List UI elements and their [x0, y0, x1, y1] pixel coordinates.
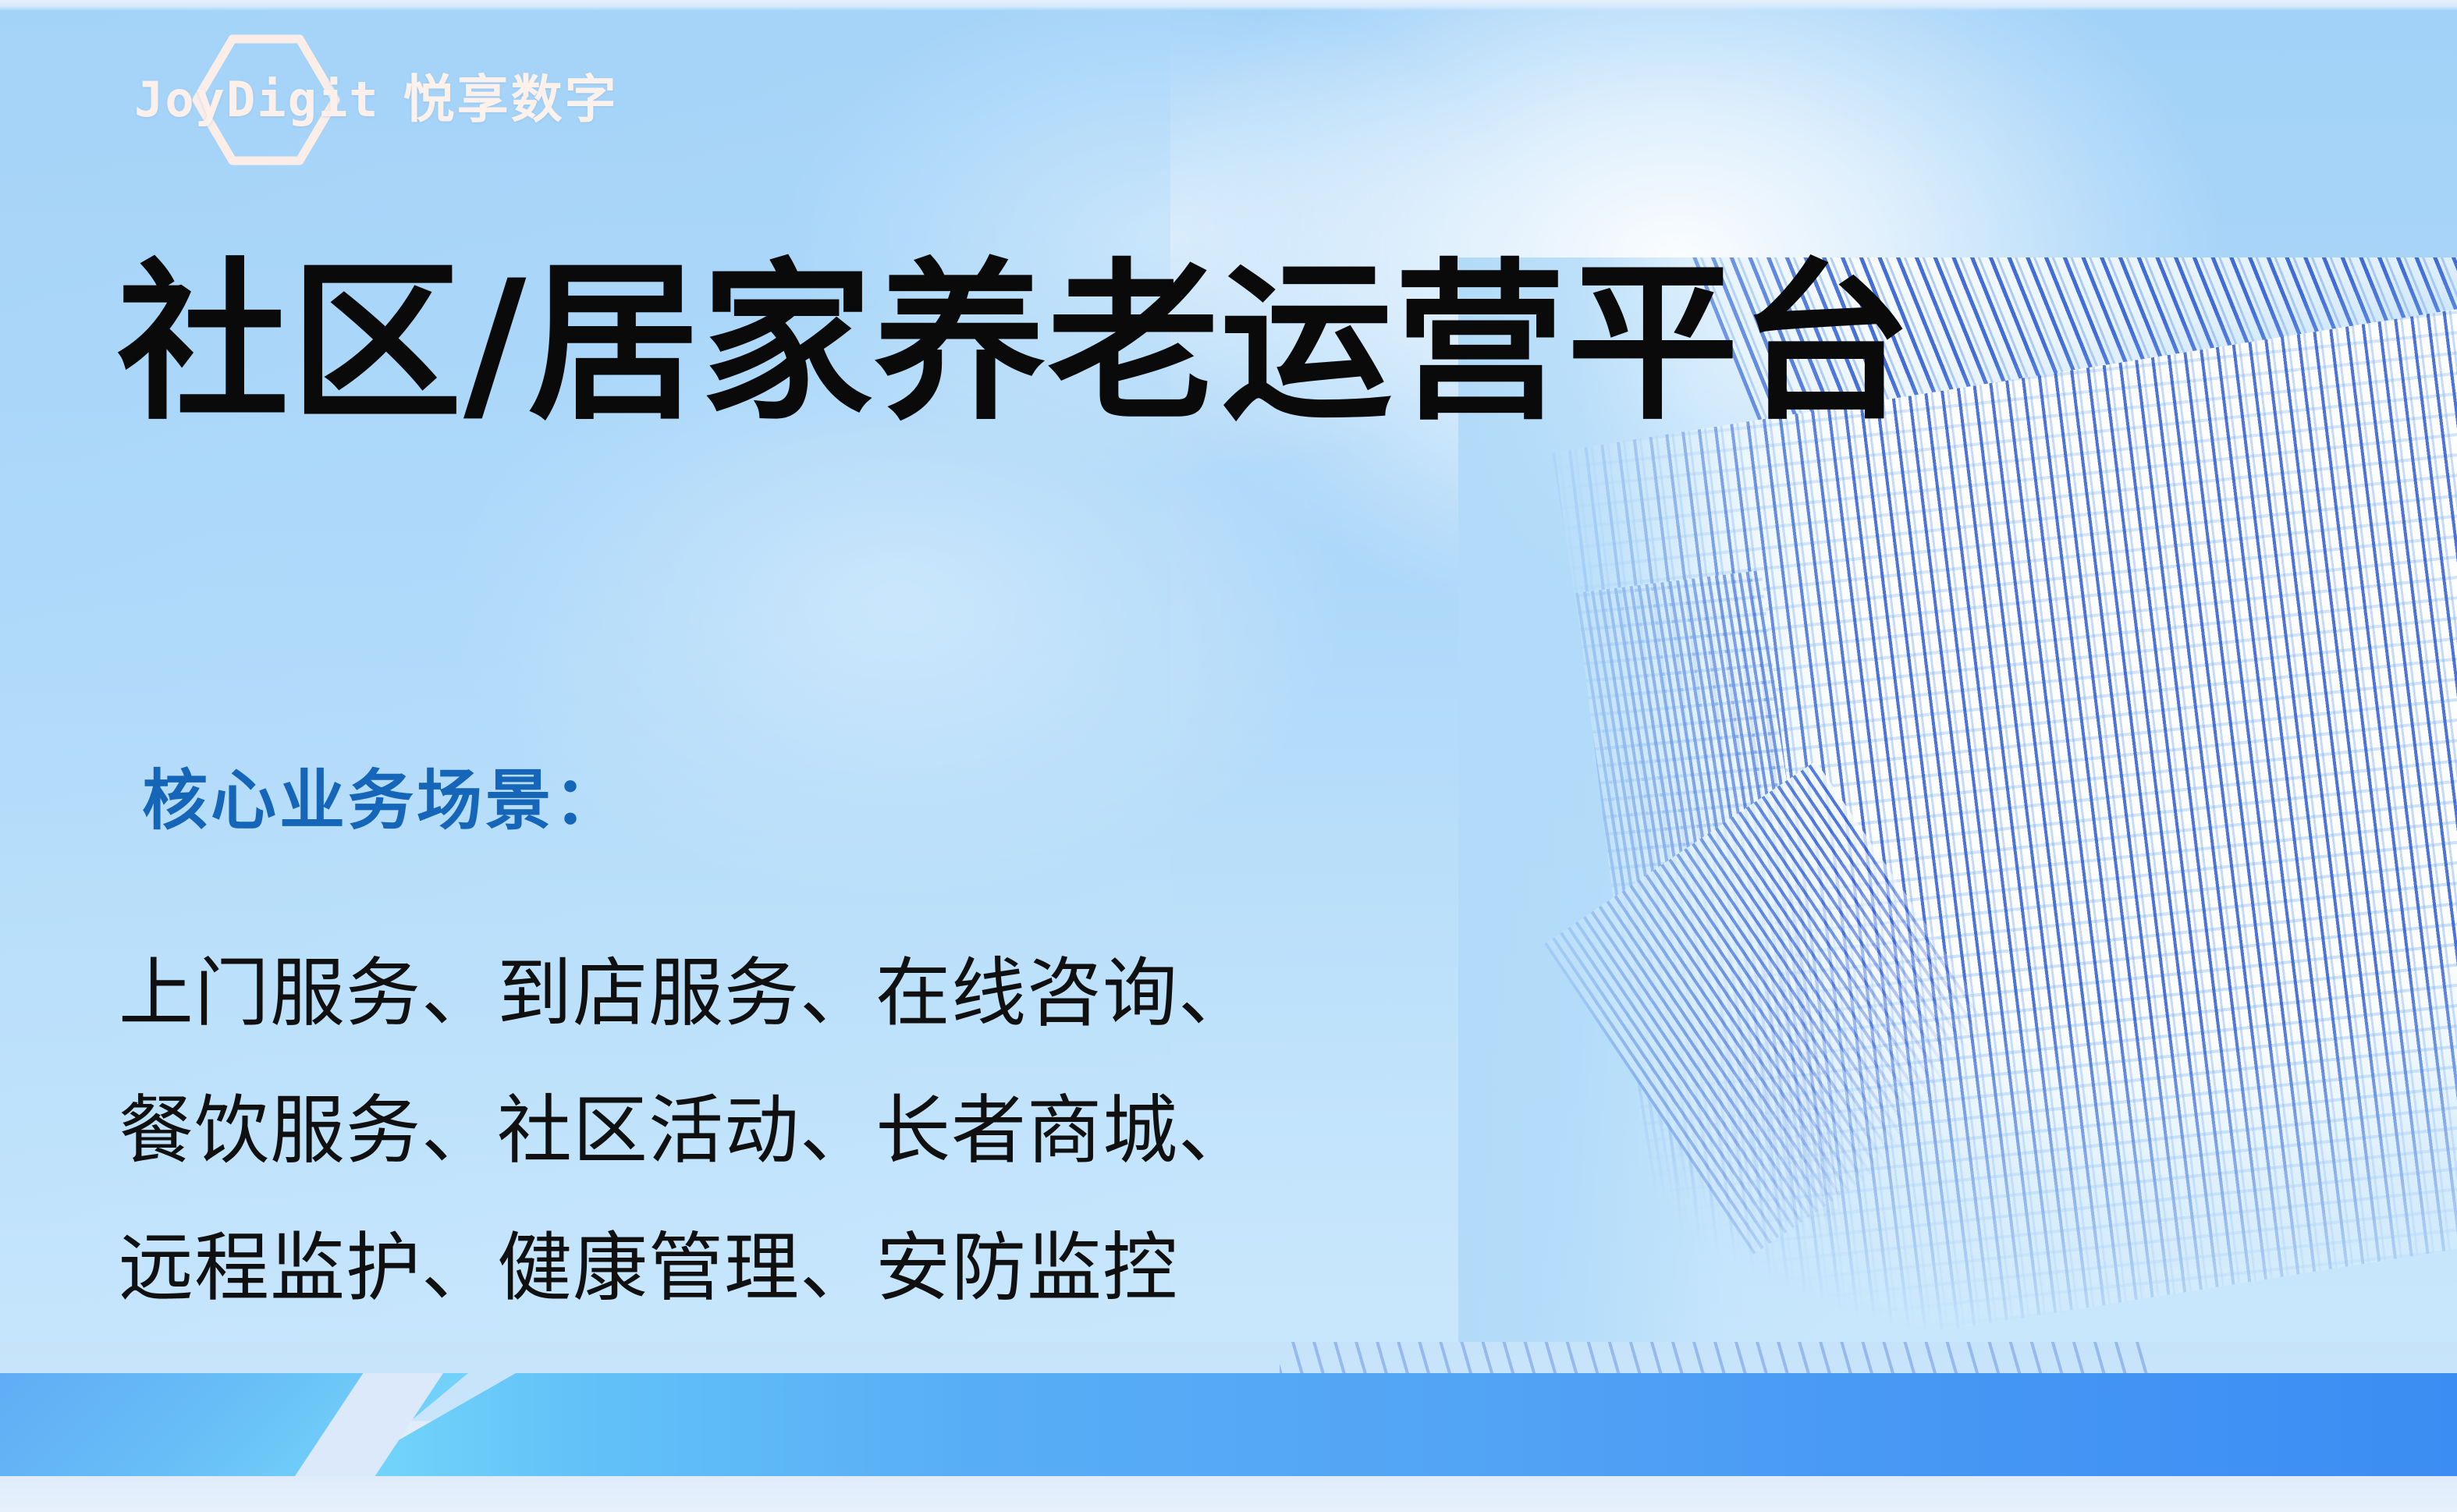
slide-canvas: JoyDigit 悦享数字 社区/居家养老运营平台 核心业务场景： 上门服务、到… [0, 0, 2457, 1512]
page-title: 社区/居家养老运营平台 [117, 257, 1913, 429]
section-subheading: 核心业务场景： [142, 768, 623, 833]
banner-tower-trace [1280, 1342, 2153, 1375]
logo-chinese-name: 悦享数字 [403, 74, 619, 126]
banner-bottom-strip [0, 1476, 2457, 1512]
logo-wordmark: JoyDigit [134, 76, 380, 124]
scenario-line: 上门服务、到店服务、在线咨询、 [119, 925, 1254, 1062]
bottom-banner [0, 1342, 2457, 1512]
scenario-line: 远程监护、健康管理、安防监控 [119, 1199, 1254, 1336]
scenario-line: 餐饮服务、社区活动、长者商城、 [119, 1062, 1254, 1199]
brand-logo: JoyDigit 悦享数字 [134, 67, 619, 133]
top-edge-highlight [0, 0, 2457, 11]
banner-main-shape [336, 1373, 2457, 1476]
scenario-list: 上门服务、到店服务、在线咨询、 餐饮服务、社区活动、长者商城、 远程监护、健康管… [119, 925, 1254, 1336]
